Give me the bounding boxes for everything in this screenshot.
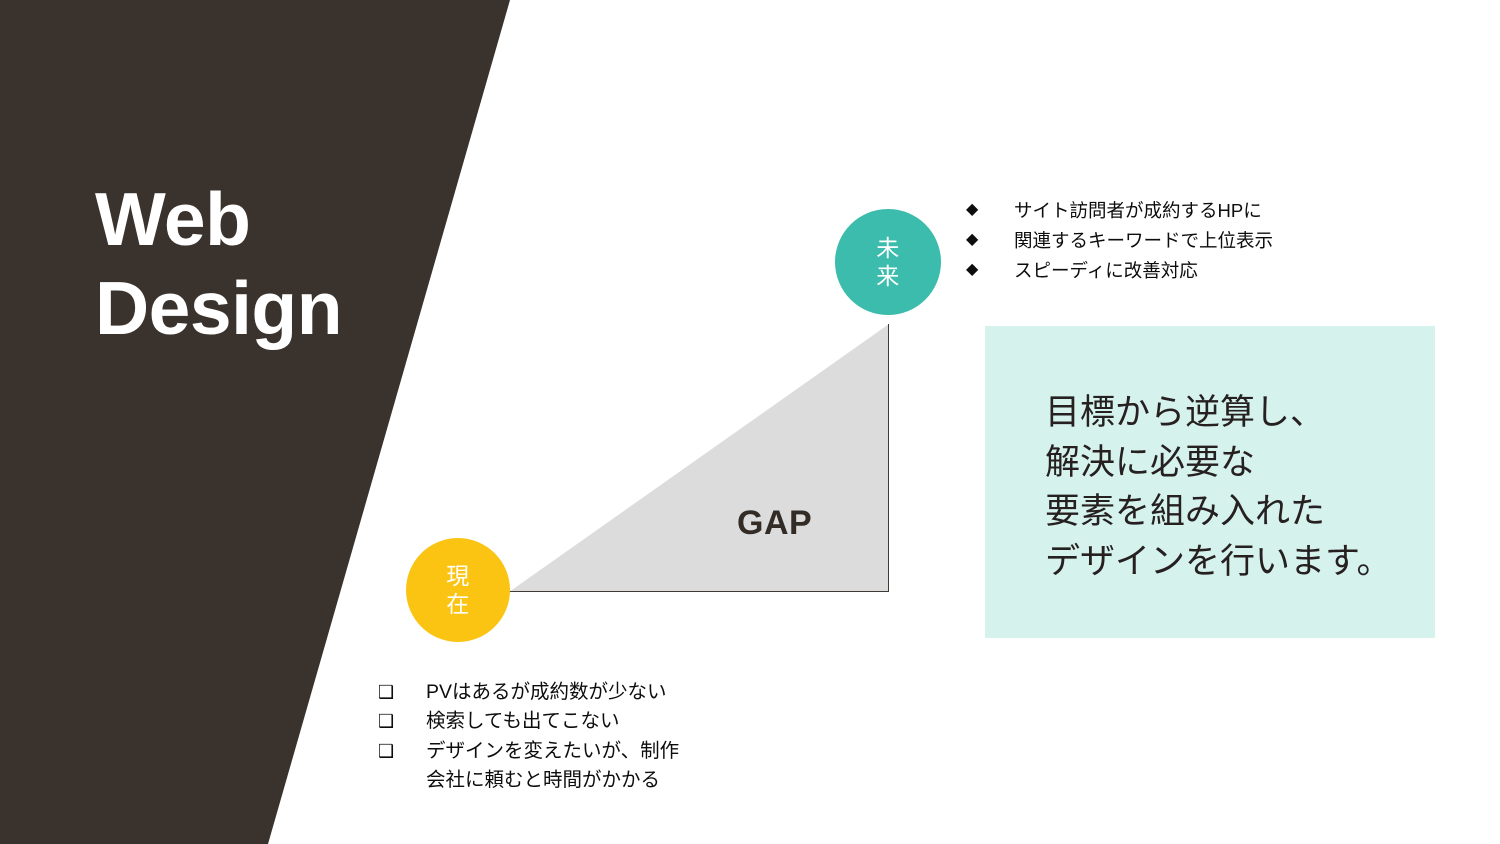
gap-triangle-group: GAP: [509, 324, 889, 592]
diamond-bullet-icon: ◆: [966, 256, 1014, 284]
list-item: ❑ デザインを変えたいが、制作 会社に頼むと時間がかかる: [378, 737, 778, 796]
square-bullet-icon: ❑: [378, 678, 426, 706]
list-item-label: デザインを変えたいが、制作 会社に頼むと時間がかかる: [426, 737, 778, 796]
diamond-bullet-icon: ◆: [966, 196, 1014, 224]
list-item-label: 関連するキーワードで上位表示: [1014, 226, 1386, 256]
gap-triangle-bottom-edge: [509, 591, 889, 593]
list-item: ◆ 関連するキーワードで上位表示: [966, 226, 1386, 256]
message-callout-text: 目標から逆算し、 解決に必要な 要素を組み入れた デザインを行います。: [1045, 388, 1445, 587]
square-bullet-icon: ❑: [378, 737, 426, 765]
list-item-label: PVはあるが成約数が少ない: [426, 678, 778, 707]
present-node-circle: 現 在: [406, 538, 510, 642]
list-item: ◆ サイト訪問者が成約するHPに: [966, 196, 1386, 226]
gap-label: GAP: [737, 504, 812, 543]
list-item-label: サイト訪問者が成約するHPに: [1014, 196, 1386, 226]
future-node-char-1: 未: [876, 234, 900, 262]
square-bullet-icon: ❑: [378, 707, 426, 735]
list-item-label: スピーディに改善対応: [1014, 256, 1386, 286]
page-title: Web Design: [95, 175, 515, 352]
future-node-circle: 未 来: [835, 209, 941, 315]
future-node-char-2: 来: [876, 262, 900, 290]
list-item: ◆ スピーディに改善対応: [966, 256, 1386, 286]
message-callout-box: 目標から逆算し、 解決に必要な 要素を組み入れた デザインを行います。: [985, 326, 1435, 638]
present-problems-list: ❑ PVはあるが成約数が少ない ❑ 検索しても出てこない ❑ デザインを変えたい…: [378, 678, 778, 795]
slide-canvas: Web Design GAP 未 来 現 在 ◆ サイト訪問者が成約するHPに …: [0, 0, 1500, 844]
gap-triangle-right-edge: [888, 324, 890, 592]
present-node-char-1: 現: [446, 562, 470, 590]
list-item-label: 検索しても出てこない: [426, 707, 778, 736]
list-item: ❑ PVはあるが成約数が少ない: [378, 678, 778, 707]
diamond-bullet-icon: ◆: [966, 226, 1014, 254]
list-item: ❑ 検索しても出てこない: [378, 707, 778, 736]
present-node-char-2: 在: [446, 590, 470, 618]
gap-triangle-shape: [509, 324, 889, 592]
future-benefits-list: ◆ サイト訪問者が成約するHPに ◆ 関連するキーワードで上位表示 ◆ スピーデ…: [966, 196, 1386, 286]
